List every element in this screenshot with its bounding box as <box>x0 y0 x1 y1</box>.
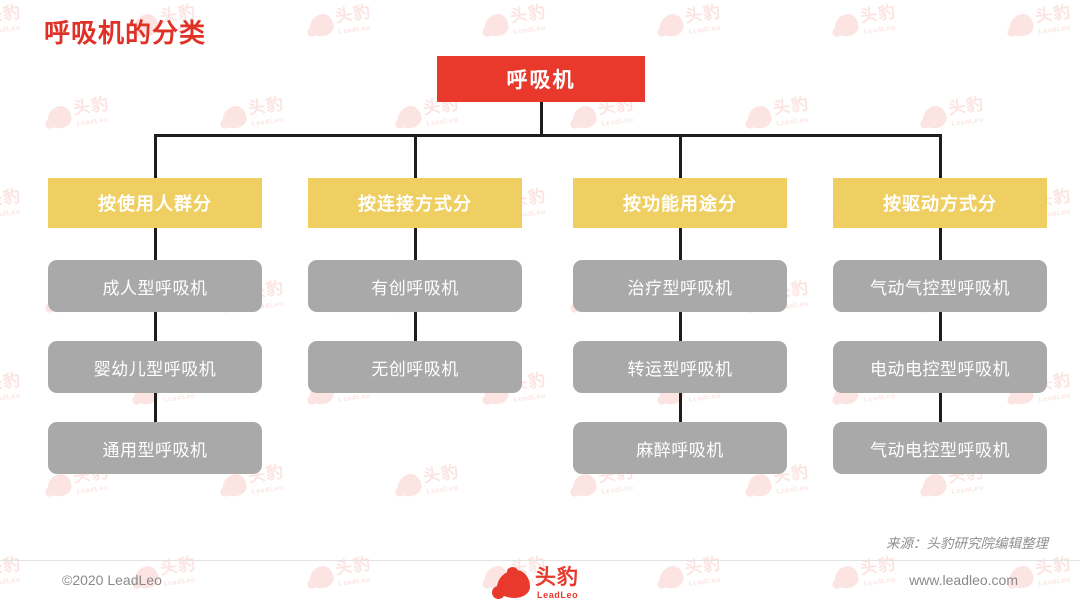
logo-chinese-name: 头豹 <box>535 566 579 589</box>
watermark-english: LeadLeo <box>863 576 896 587</box>
leopard-icon <box>497 570 530 598</box>
branch-stem-connector-3 <box>679 135 682 178</box>
leaf-node-4-2[interactable]: 电动电控型呼吸机 <box>833 341 1047 393</box>
watermark-english: LeadLeo <box>1038 576 1071 587</box>
source-note: 来源：头豹研究院编辑整理 <box>886 532 1048 552</box>
branch-stem-connector-2 <box>414 135 417 178</box>
leaf-node-4-1[interactable]: 气动气控型呼吸机 <box>833 260 1047 312</box>
leaf-chain-connector-4-3 <box>939 393 942 422</box>
category-node-2[interactable]: 按连接方式分 <box>308 178 522 228</box>
watermark-chinese: 头豹 <box>159 555 197 579</box>
leaf-chain-connector-3-2 <box>679 312 682 341</box>
watermark-chinese: 头豹 <box>334 555 372 579</box>
watermark-english: LeadLeo <box>688 576 721 587</box>
copyright-text: ©2020 LeadLeo <box>62 572 162 588</box>
category-node-4[interactable]: 按驱动方式分 <box>833 178 1047 228</box>
leaf-chain-connector-1-3 <box>154 393 157 422</box>
leaf-node-4-3[interactable]: 气动电控型呼吸机 <box>833 422 1047 474</box>
watermark-tile: 头豹LeadLeo <box>1007 550 1080 607</box>
watermark-chinese: 头豹 <box>0 555 23 579</box>
watermark-leopard-icon <box>308 565 335 590</box>
watermark-tile: 头豹LeadLeo <box>307 550 397 607</box>
watermark-tile: 头豹LeadLeo <box>0 550 47 607</box>
watermark-chinese: 头豹 <box>1034 555 1072 579</box>
leaf-node-1-1[interactable]: 成人型呼吸机 <box>48 260 262 312</box>
watermark-chinese: 头豹 <box>684 555 722 579</box>
horizontal-bus-connector <box>154 134 942 137</box>
leaf-chain-connector-1-2 <box>154 312 157 341</box>
category-node-3[interactable]: 按功能用途分 <box>573 178 787 228</box>
leaf-chain-connector-2-2 <box>414 312 417 341</box>
root-node[interactable]: 呼吸机 <box>437 56 645 102</box>
watermark-tile: 头豹LeadLeo <box>657 550 747 607</box>
leaf-node-3-1[interactable]: 治疗型呼吸机 <box>573 260 787 312</box>
watermark-english: LeadLeo <box>338 576 371 587</box>
leaf-node-1-3[interactable]: 通用型呼吸机 <box>48 422 262 474</box>
category-to-leaf-connector-2 <box>414 228 417 260</box>
watermark-english: LeadLeo <box>163 576 196 587</box>
leaf-node-3-3[interactable]: 麻醉呼吸机 <box>573 422 787 474</box>
leaf-node-2-2[interactable]: 无创呼吸机 <box>308 341 522 393</box>
category-to-leaf-connector-4 <box>939 228 942 260</box>
leaf-node-3-2[interactable]: 转运型呼吸机 <box>573 341 787 393</box>
branch-stem-connector-4 <box>939 135 942 178</box>
watermark-leopard-icon <box>658 565 685 590</box>
page-title: 呼吸机的分类 <box>44 13 206 50</box>
root-stem-connector <box>540 102 543 135</box>
branch-stem-connector-1 <box>154 135 157 178</box>
leaf-chain-connector-3-3 <box>679 393 682 422</box>
category-node-1[interactable]: 按使用人群分 <box>48 178 262 228</box>
logo-english-name: LeadLeo <box>537 590 578 600</box>
footer-divider <box>0 560 1080 561</box>
leaf-node-2-1[interactable]: 有创呼吸机 <box>308 260 522 312</box>
classification-diagram: 呼吸机按使用人群分成人型呼吸机婴幼儿型呼吸机通用型呼吸机按连接方式分有创呼吸机无… <box>0 0 1080 520</box>
leadleo-logo: 头豹 LeadLeo <box>497 566 607 602</box>
category-to-leaf-connector-1 <box>154 228 157 260</box>
watermark-english: LeadLeo <box>0 576 21 587</box>
website-link[interactable]: www.leadleo.com <box>909 572 1018 588</box>
watermark-chinese: 头豹 <box>859 555 897 579</box>
category-to-leaf-connector-3 <box>679 228 682 260</box>
watermark-leopard-icon <box>833 565 860 590</box>
leaf-node-1-2[interactable]: 婴幼儿型呼吸机 <box>48 341 262 393</box>
leaf-chain-connector-4-2 <box>939 312 942 341</box>
slide-canvas: 头豹LeadLeo头豹LeadLeo头豹LeadLeo头豹LeadLeo头豹Le… <box>0 0 1080 608</box>
